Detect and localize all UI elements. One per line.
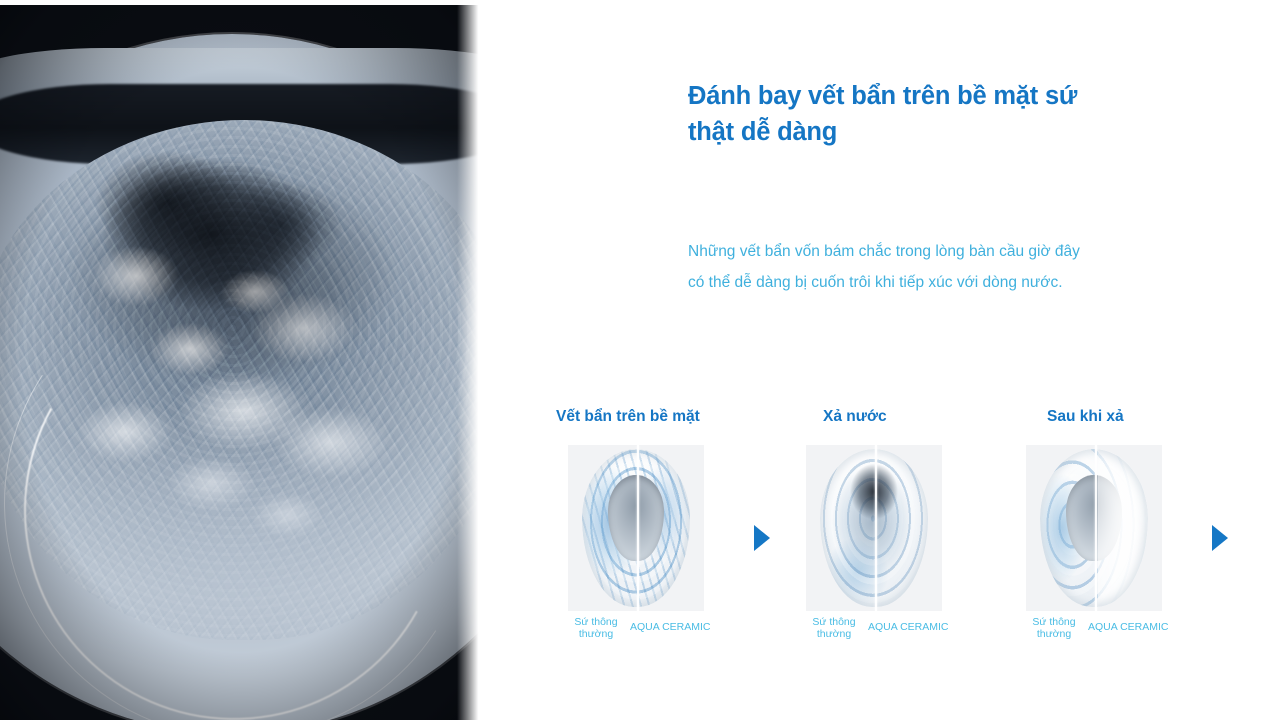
step-image-after-flush-bowl	[1026, 445, 1162, 611]
label-normal-ceramic: Sứ thông thường	[568, 616, 624, 641]
label-aqua-ceramic: AQUA CERAMIC	[1088, 616, 1169, 633]
split-divider-line	[875, 445, 877, 611]
product-photo-toilet-bowl	[0, 0, 483, 720]
step-title: Xả nước	[793, 408, 991, 430]
comparison-steps: Vết bẩn trên bề mặt Sứ thông thường AQUA…	[555, 408, 1267, 650]
play-triangle-icon	[754, 525, 770, 551]
photo-top-edge	[0, 0, 483, 5]
label-aqua-ceramic: AQUA CERAMIC	[630, 616, 711, 633]
step-image-stained-bowl	[568, 445, 704, 611]
page-title: Đánh bay vết bẩn trên bề mặt sứ thật dễ …	[688, 78, 1108, 150]
split-divider-line	[1095, 445, 1097, 611]
step-image-flushing-bowl	[806, 445, 942, 611]
label-normal-line2: thường	[1026, 628, 1082, 640]
label-normal-line1: Sứ thông	[568, 616, 624, 628]
step-legend: Sứ thông thường AQUA CERAMIC	[568, 616, 754, 641]
split-divider-line	[637, 445, 639, 611]
step-stain-on-surface: Vết bẩn trên bề mặt Sứ thông thường AQUA…	[555, 408, 753, 650]
label-normal-line2: thường	[568, 628, 624, 640]
label-normal-line2: thường	[806, 628, 862, 640]
play-triangle-icon	[1212, 525, 1228, 551]
step-flushing: Xả nước Sứ thông thường AQUA CERAMIC	[793, 408, 991, 650]
label-normal-ceramic: Sứ thông thường	[1026, 616, 1082, 641]
photo-right-fade	[457, 0, 483, 720]
step-legend: Sứ thông thường AQUA CERAMIC	[1026, 616, 1212, 641]
content-panel: Đánh bay vết bẩn trên bề mặt sứ thật dễ …	[483, 0, 1280, 720]
description-text: Những vết bẩn vốn bám chắc trong lòng bà…	[688, 236, 1088, 299]
label-aqua-ceramic: AQUA CERAMIC	[868, 616, 949, 633]
label-normal-line1: Sứ thông	[806, 616, 862, 628]
step-title: Vết bẩn trên bề mặt	[555, 408, 753, 430]
label-normal-ceramic: Sứ thông thường	[806, 616, 862, 641]
step-legend: Sứ thông thường AQUA CERAMIC	[806, 616, 992, 641]
step-title: Sau khi xả	[1013, 408, 1211, 430]
step-after-flush: Sau khi xả Sứ thông thường AQUA CERAMIC	[1013, 408, 1211, 650]
label-normal-line1: Sứ thông	[1026, 616, 1082, 628]
